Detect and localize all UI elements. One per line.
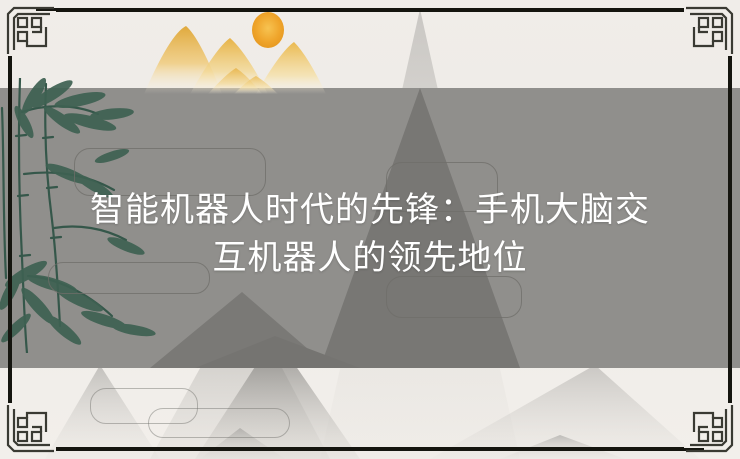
page-title-line-2: 互机器人的领先地位 [213, 239, 528, 277]
fret-corner-ornament-icon [684, 403, 736, 455]
frame-bottom-line [56, 447, 684, 451]
frame-top-line [56, 8, 684, 12]
fret-corner-ornament-icon [4, 4, 56, 56]
frame-left-line [8, 56, 12, 403]
page-title-line-1: 智能机器人时代的先锋：手机大脑交 [90, 191, 650, 229]
decorative-rounded-rect [386, 276, 522, 318]
poster-canvas: 智能机器人时代的先锋：手机大脑交互机器人的领先地位 [0, 0, 740, 459]
sun-shape [252, 12, 284, 48]
decorative-rounded-rect [148, 408, 290, 438]
fret-corner-ornament-icon [4, 403, 56, 455]
fret-corner-ornament-icon [684, 4, 736, 56]
page-title: 智能机器人时代的先锋：手机大脑交互机器人的领先地位 [36, 186, 704, 282]
frame-right-line [728, 56, 732, 403]
